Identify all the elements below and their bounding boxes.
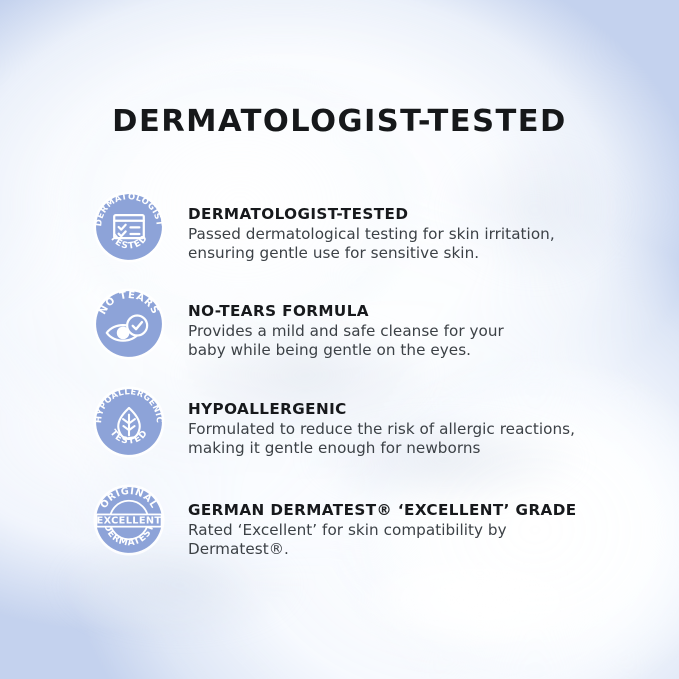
claim-body: Provides a mild and safe cleanse for you… bbox=[188, 322, 624, 361]
page-title: DERMATOLOGIST-TESTED bbox=[0, 104, 679, 139]
claim-row-german-dermatest: ORIGINAL DERMATEST EXCELLENT GERMAN DERM… bbox=[84, 481, 624, 560]
svg-text:EXCELLENT: EXCELLENT bbox=[97, 515, 162, 526]
badge-wrap: ORIGINAL DERMATEST EXCELLENT bbox=[84, 481, 174, 557]
claim-title: DERMATOLOGIST-TESTED bbox=[188, 205, 624, 223]
claim-copy: HYPOALLERGENIC Formulated to reduce the … bbox=[174, 383, 624, 459]
eye-check-icon: NO TEARS bbox=[92, 287, 166, 361]
claim-row-no-tears-formula: NO TEARS NO-TEARS FORMULA Provides a mil… bbox=[84, 285, 624, 361]
claim-copy: GERMAN DERMATEST® ‘EXCELLENT’ GRADE Rate… bbox=[174, 481, 624, 560]
claim-title: HYPOALLERGENIC bbox=[188, 400, 624, 418]
claim-title: NO-TEARS FORMULA bbox=[188, 302, 624, 320]
claim-body: Formulated to reduce the risk of allergi… bbox=[188, 420, 624, 459]
claim-body: Passed dermatological testing for skin i… bbox=[188, 225, 624, 264]
badge-wrap: DERMATOLOGIST TESTED bbox=[84, 188, 174, 264]
claim-body: Rated ‘Excellent’ for skin compatibility… bbox=[188, 521, 624, 560]
dermatest-seal-icon: ORIGINAL DERMATEST EXCELLENT bbox=[92, 483, 166, 557]
claim-title: GERMAN DERMATEST® ‘EXCELLENT’ GRADE bbox=[188, 501, 624, 519]
claim-row-hypoallergenic: HYPOALLERGENIC TESTED HYPOALLERGENIC For… bbox=[84, 383, 624, 459]
clipboard-checklist-icon: DERMATOLOGIST TESTED bbox=[92, 190, 166, 264]
leaf-drop-icon: HYPOALLERGENIC TESTED bbox=[92, 385, 166, 459]
claim-copy: NO-TEARS FORMULA Provides a mild and saf… bbox=[174, 285, 624, 361]
claim-copy: DERMATOLOGIST-TESTED Passed dermatologic… bbox=[174, 188, 624, 264]
claim-row-dermatologist-tested: DERMATOLOGIST TESTED DERMATOLOGIST-TESTE… bbox=[84, 188, 624, 264]
badge-wrap: NO TEARS bbox=[84, 285, 174, 361]
badge-wrap: HYPOALLERGENIC TESTED bbox=[84, 383, 174, 459]
product-claims-infographic: DERMATOLOGIST-TESTED DERMATOLOGIST TESTE… bbox=[0, 0, 679, 679]
